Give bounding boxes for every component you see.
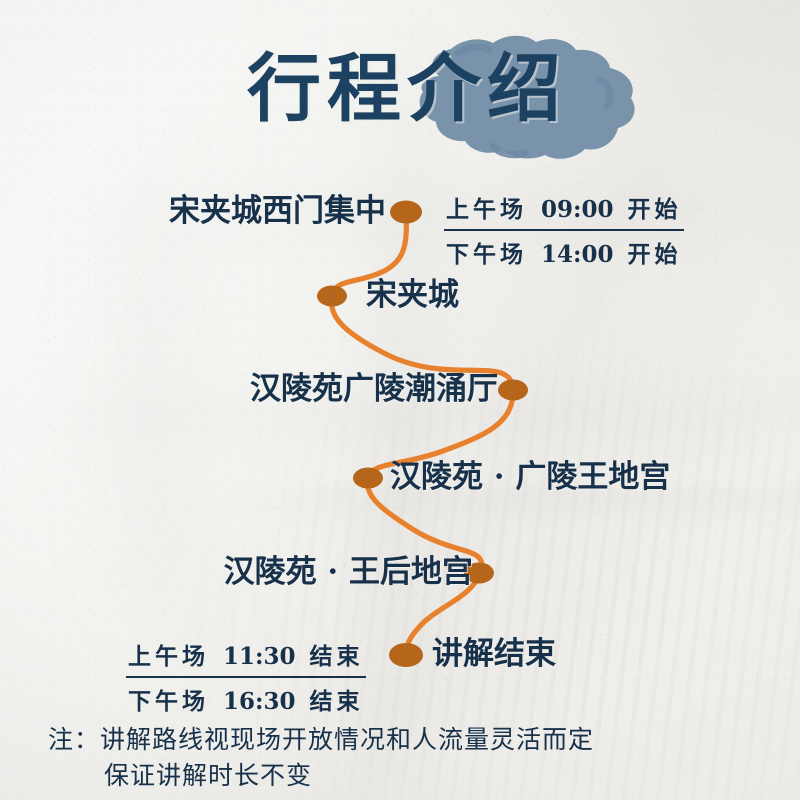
route-stop-label-3: 汉陵苑广陵潮涌厅 <box>250 374 498 405</box>
start-time-row-morning: 上午场 09:00 开始 <box>444 186 684 229</box>
end-afternoon-session: 下午场 <box>128 682 209 716</box>
end-morning-action: 结束 <box>310 637 364 671</box>
route-stop-label-4: 汉陵苑 · 广陵王地宫 <box>390 462 670 493</box>
start-times-block: 上午场 09:00 开始 下午场 14:00 开始 <box>444 186 684 274</box>
page-title: 行程介绍 <box>0 52 800 126</box>
route-stop-label-5: 汉陵苑 · 王后地宫 <box>224 557 473 588</box>
start-afternoon-action: 开始 <box>628 235 682 269</box>
start-morning-session: 上午场 <box>446 190 527 224</box>
footnote-line-2: 保证讲解时长不变 <box>48 758 594 794</box>
footnote-line-1: 注：讲解路线视现场开放情况和人流量灵活而定 <box>48 725 594 754</box>
route-stop-label-1: 宋夹城西门集中 <box>169 196 386 227</box>
start-time-row-afternoon: 下午场 14:00 开始 <box>444 231 684 274</box>
end-time-row-morning: 上午场 11:30 结束 <box>126 633 366 676</box>
title-area: 行程介绍 <box>0 18 800 158</box>
route-stop-label-6: 讲解结束 <box>432 639 556 670</box>
start-afternoon-session: 下午场 <box>446 235 527 269</box>
route-stop-label-2: 宋夹城 <box>366 280 459 311</box>
end-morning-session: 上午场 <box>128 637 209 671</box>
end-morning-time: 11:30 <box>223 643 296 670</box>
start-morning-time: 09:00 <box>541 196 614 223</box>
end-afternoon-action: 结束 <box>310 682 364 716</box>
end-times-block: 上午场 11:30 结束 下午场 16:30 结束 <box>126 633 366 721</box>
start-morning-action: 开始 <box>628 190 682 224</box>
itinerary-poster: 行程介绍 宋夹城西门集中 宋夹城 汉陵苑广陵潮涌厅 汉陵苑 · 广陵王地宫 汉陵… <box>0 0 800 800</box>
start-afternoon-time: 14:00 <box>541 241 614 268</box>
end-afternoon-time: 16:30 <box>223 688 296 715</box>
end-time-row-afternoon: 下午场 16:30 结束 <box>126 678 366 721</box>
footnote: 注：讲解路线视现场开放情况和人流量灵活而定 保证讲解时长不变 <box>48 722 594 793</box>
